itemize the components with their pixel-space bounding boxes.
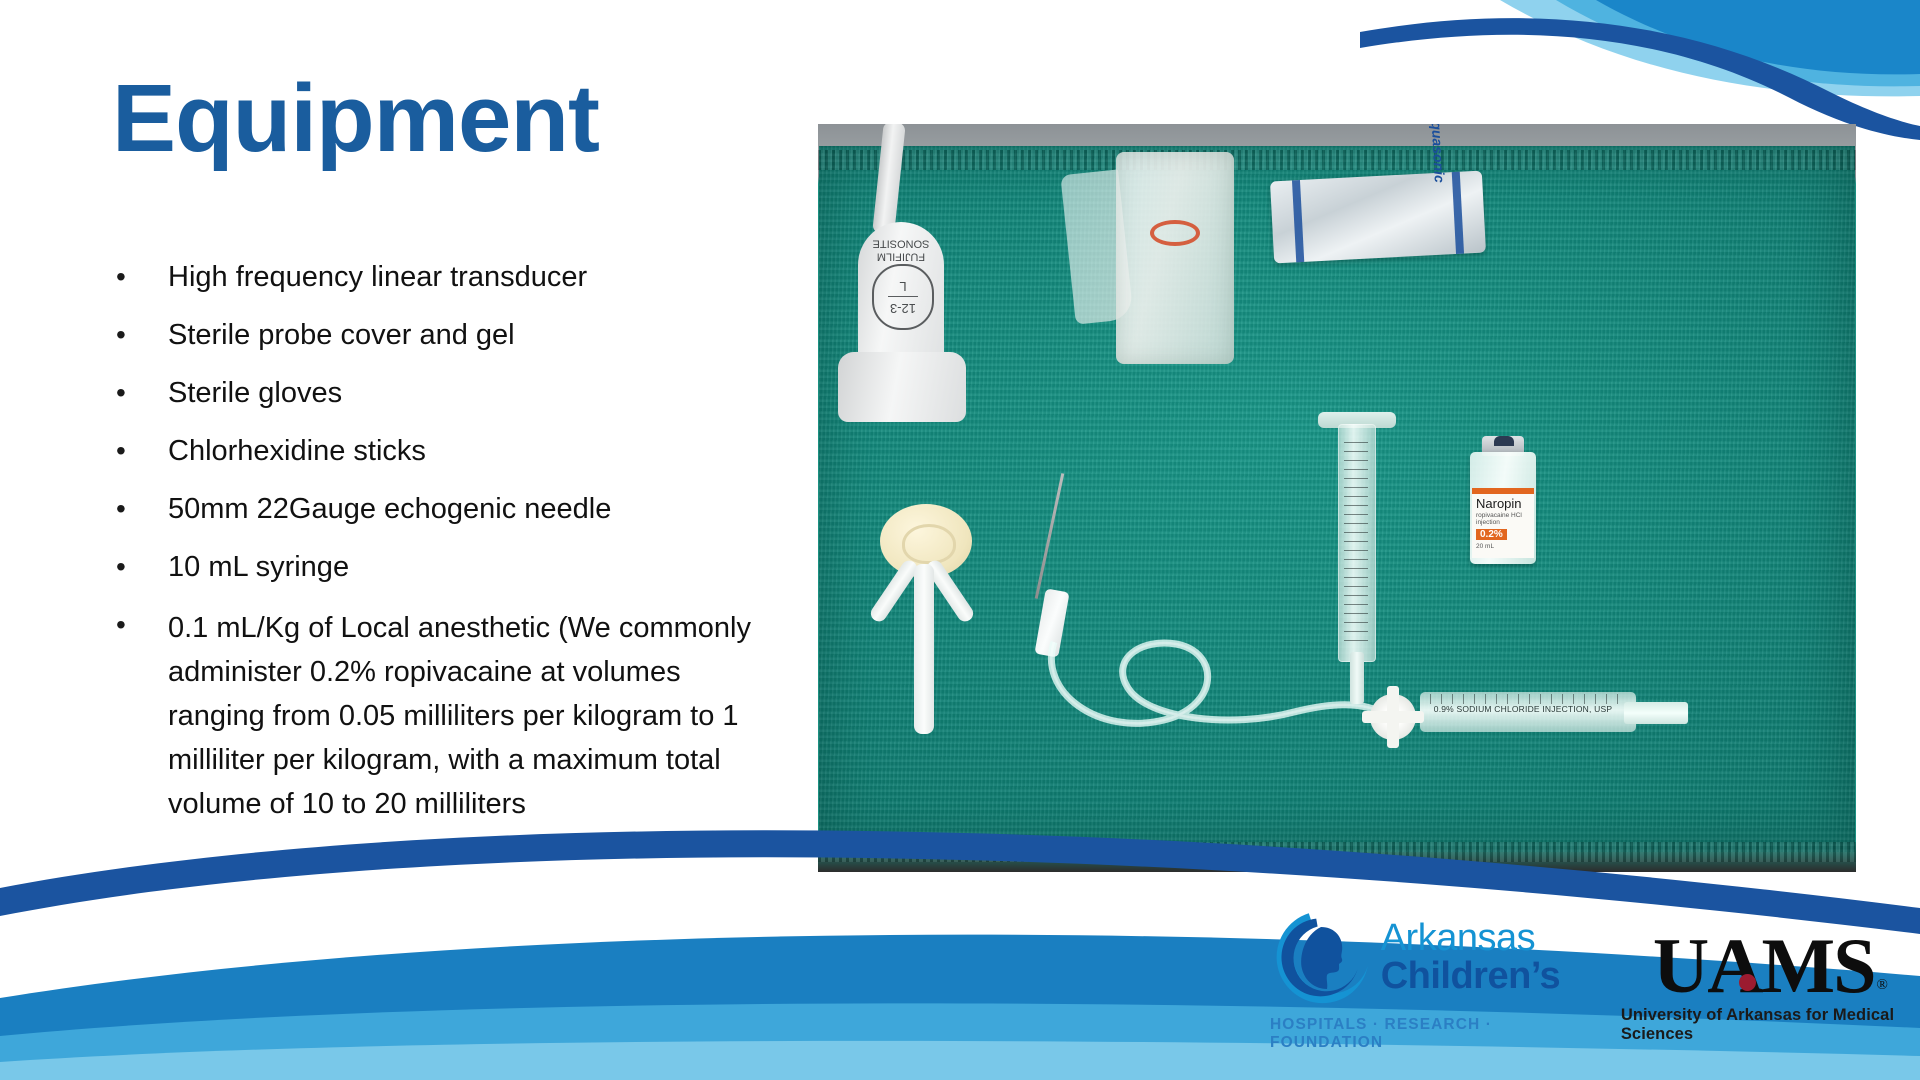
childrens-head-circle-icon: [1271, 905, 1375, 1009]
sterile-probe-cover-bag: [1116, 152, 1234, 364]
drape-hem-top: [818, 150, 1856, 170]
list-item: • 50mm 22Gauge echogenic needle: [100, 490, 800, 528]
list-item-label: 0.1 mL/Kg of Local anesthetic (We common…: [168, 606, 768, 826]
list-item: • Chlorhexidine sticks: [100, 432, 800, 470]
probe-brand-label: FUJIFILM SONOSITE: [866, 236, 936, 262]
saline-syringe-graduations: [1430, 694, 1620, 704]
list-item: • High frequency linear transducer: [100, 258, 800, 296]
registered-trademark-icon: ®: [1877, 977, 1888, 994]
uams-red-dot-icon: [1739, 974, 1756, 991]
list-item: • Sterile probe cover and gel: [100, 316, 800, 354]
uams-tagline: University of Arkansas for Medical Scien…: [1621, 1006, 1920, 1044]
list-item-label: Sterile gloves: [168, 374, 768, 412]
bullet-marker-icon: •: [100, 606, 168, 644]
arkansas-childrens-wordmark: Arkansas Children’s: [1381, 919, 1560, 995]
list-item-label: 10 mL syringe: [168, 548, 768, 586]
saline-syringe-label: 0.9% SODIUM CHLORIDE INJECTION, USP: [1430, 704, 1616, 714]
uams-word: UAMS: [1653, 930, 1875, 1002]
arkansas-childrens-lockup: Arkansas Children’s: [1271, 905, 1560, 1009]
list-item-label: Chlorhexidine sticks: [168, 432, 768, 470]
bullet-marker-icon: •: [100, 258, 168, 296]
uams-logo: UAMS ® University of Arkansas for Medica…: [1621, 930, 1920, 1052]
bullet-marker-icon: •: [100, 374, 168, 412]
list-item: • Sterile gloves: [100, 374, 800, 412]
equipment-tray-photo: FUJIFILM SONOSITE 12-3 L Aquasonic: [818, 124, 1856, 872]
drape-hem-bottom: [818, 842, 1856, 862]
bullet-marker-icon: •: [100, 548, 168, 586]
sterile-ultrasound-gel-packet: Aquasonic: [1270, 171, 1486, 264]
syringe-plunger: [1350, 652, 1364, 704]
bullet-marker-icon: •: [100, 490, 168, 528]
vial-generic-name: ropivacaine HCl injection: [1476, 512, 1530, 527]
logo-row: Arkansas Children’s HOSPITALS · RESEARCH…: [1270, 905, 1920, 1052]
gel-packet-stripe: [1292, 180, 1304, 262]
bullet-marker-icon: •: [100, 316, 168, 354]
list-item: • 10 mL syringe: [100, 548, 800, 586]
logo-word-arkansas: Arkansas: [1381, 919, 1560, 957]
uams-wordmark: UAMS ®: [1653, 930, 1888, 1002]
logo-word-childrens: Children’s: [1381, 957, 1560, 995]
bullet-marker-icon: •: [100, 432, 168, 470]
vial-concentration: 0.2%: [1476, 529, 1507, 541]
phantom-model-stem: [914, 564, 934, 734]
vial-brand-name: Naropin: [1476, 497, 1530, 512]
list-item: • 0.1 mL/Kg of Local anesthetic (We comm…: [100, 606, 800, 826]
vial-label: Naropin ropivacaine HCl injection 0.2% 2…: [1472, 494, 1534, 558]
transducer-footprint: [838, 352, 966, 422]
arkansas-childrens-tagline: HOSPITALS · RESEARCH · FOUNDATION: [1270, 1016, 1561, 1052]
saline-syringe-plunger: [1624, 702, 1688, 724]
three-way-stopcock: [1370, 694, 1416, 740]
gel-packet-stripe: [1452, 172, 1464, 254]
list-item-label: 50mm 22Gauge echogenic needle: [168, 490, 768, 528]
equipment-bullet-list: • High frequency linear transducer • Ste…: [100, 258, 800, 846]
page-title: Equipment: [112, 66, 599, 172]
vial-volume: 20 mL: [1476, 543, 1530, 550]
slide-canvas: Equipment • High frequency linear transd…: [0, 0, 1920, 1080]
local-anesthetic-vial: Naropin ropivacaine HCl injection 0.2% 2…: [1470, 452, 1536, 564]
arkansas-childrens-logo: Arkansas Children’s HOSPITALS · RESEARCH…: [1270, 905, 1561, 1052]
syringe-graduations: [1344, 442, 1368, 642]
probe-model-label: 12-3 L: [872, 264, 934, 330]
list-item-label: High frequency linear transducer: [168, 258, 768, 296]
list-item-label: Sterile probe cover and gel: [168, 316, 768, 354]
gel-brand-label: Aquasonic: [1429, 124, 1449, 183]
rubber-band-icon: [1150, 220, 1200, 246]
